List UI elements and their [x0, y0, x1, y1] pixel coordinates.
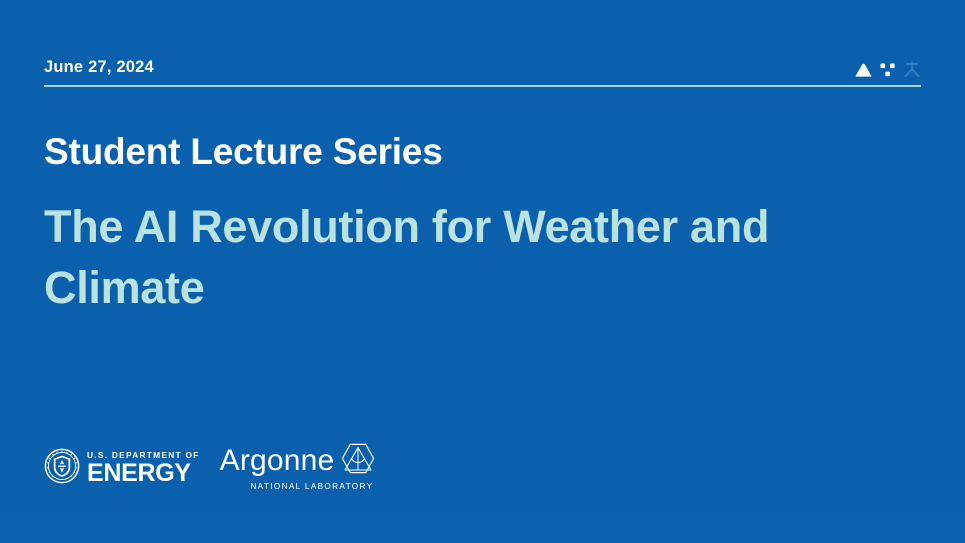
header-divider-rule	[44, 85, 921, 87]
doe-logo: U.S. DEPARTMENT OF ENERGY	[44, 448, 200, 489]
argonne-hexagon-icon	[341, 443, 375, 479]
decorative-icon-cluster	[855, 60, 921, 80]
slide-date: June 27, 2024	[44, 58, 154, 77]
doe-wordmark: U.S. DEPARTMENT OF ENERGY	[87, 451, 200, 484]
series-eyebrow: Student Lecture Series	[44, 131, 443, 173]
doe-energy-line: ENERGY	[87, 462, 200, 485]
argonne-logo: Argonne NATIONAL LABORATORY	[220, 443, 376, 493]
argonne-logo-top: Argonne	[220, 443, 376, 479]
mountain-triangle-icon	[855, 63, 872, 77]
bottom-accent-band	[0, 512, 965, 543]
argonne-wordmark: Argonne	[220, 446, 335, 476]
presentation-slide: June 27, 2024	[0, 0, 965, 543]
slide-header: June 27, 2024	[44, 58, 921, 92]
argonne-subtitle: NATIONAL LABORATORY	[250, 482, 373, 491]
three-dots-icon	[878, 62, 897, 78]
logo-row: U.S. DEPARTMENT OF ENERGY Argonne	[44, 443, 375, 493]
doe-seal-icon	[44, 448, 80, 489]
tripod-icon	[903, 62, 921, 78]
slide-title: The AI Revolution for Weather and Climat…	[44, 196, 884, 318]
